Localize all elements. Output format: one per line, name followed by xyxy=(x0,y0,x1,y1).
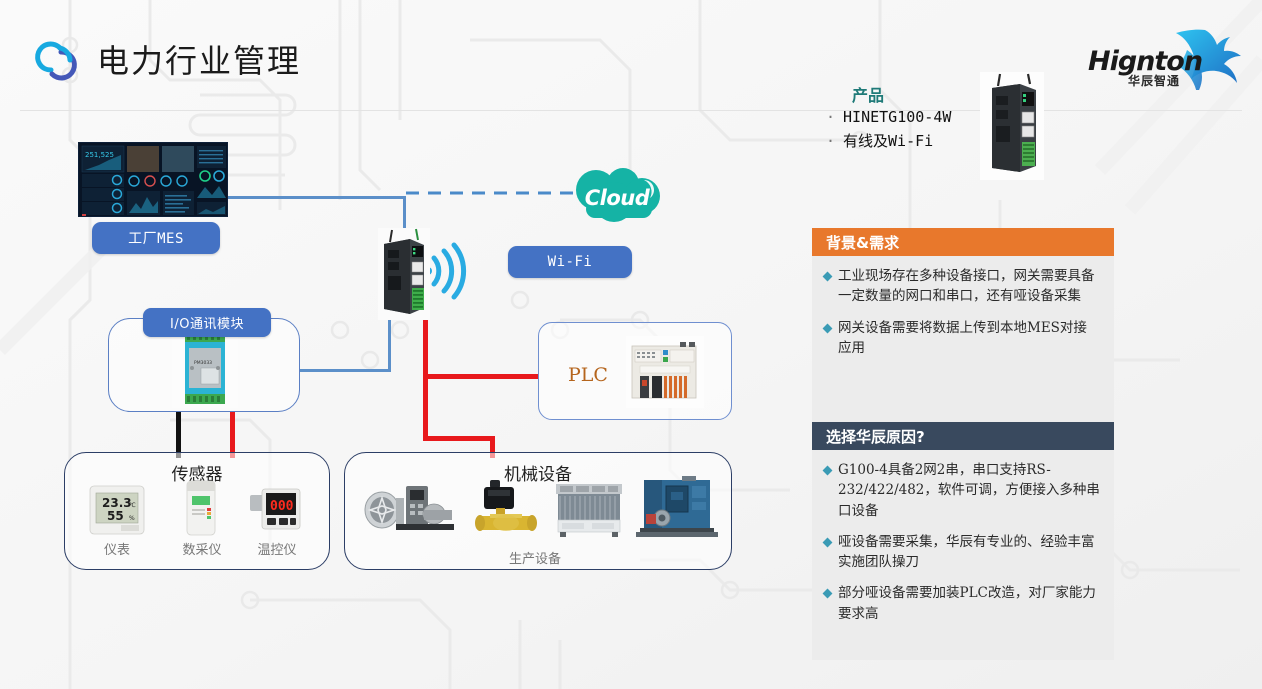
product-photo xyxy=(980,72,1044,180)
product-section-title: 产品 xyxy=(852,82,884,106)
wifi-signal-icon xyxy=(424,240,470,302)
line-gateway-to-cloud xyxy=(406,188,576,198)
bullet-item: 网关设备需要将数据上传到本地MES对接应用 xyxy=(824,318,1100,359)
svg-text:55: 55 xyxy=(107,509,124,523)
line-gateway-to-plc xyxy=(423,374,538,379)
bullet-item: G100-4具备2网2串，串口支持RS-232/422/482，软件可调，方便接… xyxy=(824,460,1100,521)
bullet-item: 工业现场存在多种设备接口，网关需要具备一定数量的网口和串口，还有哑设备采集 xyxy=(824,266,1100,307)
svg-text:000: 000 xyxy=(270,499,294,514)
sensor-meter-photo: 23.3 ℃ 55 % xyxy=(88,484,146,536)
sensor-temp-controller-photo: 000 xyxy=(248,483,304,535)
diamond-bullet-icon xyxy=(823,466,833,476)
page-header: 电力行业管理 Hignton 华辰智通 xyxy=(0,0,1262,112)
fan-pump-photo xyxy=(360,478,456,538)
line-mes-to-gateway xyxy=(228,196,406,199)
bullet-icon: · xyxy=(826,108,835,126)
svg-text:℃: ℃ xyxy=(129,502,136,509)
sensor-label-0: 仪表 xyxy=(78,539,156,558)
diamond-bullet-icon xyxy=(823,537,833,547)
solenoid-valve-photo xyxy=(472,476,542,538)
machines-caption: 生产设备 xyxy=(490,548,580,567)
sensor-datalogger-photo xyxy=(184,479,218,537)
cloud-icon: Cloud xyxy=(566,168,668,224)
svg-text:251,525: 251,525 xyxy=(85,151,114,159)
svg-text:PM3033: PM3033 xyxy=(194,360,212,366)
panel-body-why-hignton: G100-4具备2网2串，串口支持RS-232/422/482，软件可调，方便接… xyxy=(812,450,1114,660)
product-item-0: ·HINETG100-4W xyxy=(826,108,951,126)
svg-text:%: % xyxy=(129,515,135,522)
cloud-label: Cloud xyxy=(566,168,668,224)
brand-chinese-name: 华辰智通 xyxy=(1128,72,1180,89)
svg-text:23.3: 23.3 xyxy=(102,496,132,510)
line-io-to-gateway-h xyxy=(299,369,391,372)
label-factory-mes[interactable]: 工厂MES xyxy=(92,222,220,254)
bullet-item: 部分哑设备需要加装PLC改造，对厂家能力要求高 xyxy=(824,583,1100,624)
line-gateway-to-machines-h xyxy=(423,436,495,441)
label-io-module[interactable]: I/O通讯模块 xyxy=(143,308,271,337)
chiller-unit-photo xyxy=(552,476,626,538)
panel-title-why-hignton: 选择华辰原因? xyxy=(812,422,1114,450)
line-io-to-gateway-v xyxy=(388,318,391,372)
diamond-bullet-icon xyxy=(823,323,833,333)
circular-link-logo-icon xyxy=(30,36,82,86)
plc-photo xyxy=(626,336,704,408)
sensor-label-1: 数采仪 xyxy=(166,539,238,558)
product-item-1: ·有线及Wi-Fi xyxy=(826,130,933,151)
gateway-device xyxy=(378,228,430,320)
panel-why-hignton: 选择华辰原因? G100-4具备2网2串，串口支持RS-232/422/482，… xyxy=(812,422,1114,660)
factory-mes-dashboard: 251,525 xyxy=(78,142,228,217)
bullet-item: 哑设备需要采集，华辰有专业的、经验丰富实施团队操刀 xyxy=(824,532,1100,573)
label-wifi[interactable]: Wi-Fi xyxy=(508,246,632,278)
boiler-unit-photo xyxy=(636,474,718,538)
diamond-bullet-icon xyxy=(823,272,833,282)
sensor-label-2: 温控仪 xyxy=(246,539,308,558)
io-module-photo: PM3033 xyxy=(172,328,238,408)
panel-body-background-requirements: 工业现场存在多种设备接口，网关需要具备一定数量的网口和串口，还有哑设备采集 网关… xyxy=(812,256,1114,428)
page-title: 电力行业管理 xyxy=(97,36,301,82)
panel-title-background-requirements: 背景&需求 xyxy=(812,228,1114,256)
panel-background-requirements: 背景&需求 工业现场存在多种设备接口，网关需要具备一定数量的网口和串口，还有哑设… xyxy=(812,228,1114,428)
diamond-bullet-icon xyxy=(823,589,833,599)
brand-logo: Hignton 华辰智通 xyxy=(1086,22,1246,90)
bullet-icon: · xyxy=(826,132,835,150)
plc-label: PLC xyxy=(568,364,608,386)
